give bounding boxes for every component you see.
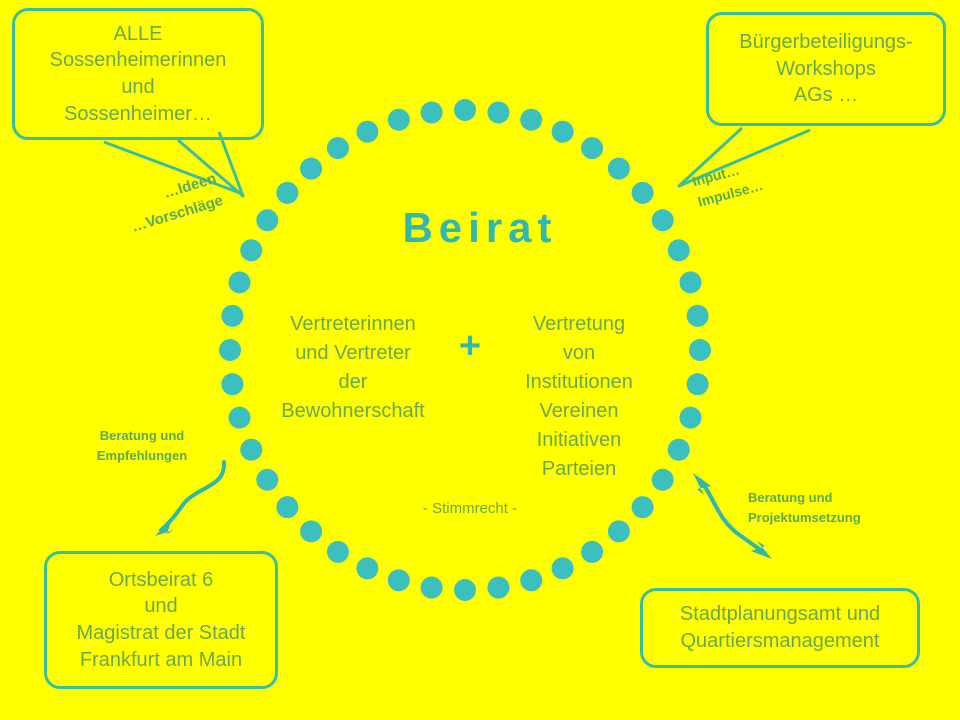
bubble-alle-sossenheimer: ALLE Sossenheimerinnen und Sossenheimer… bbox=[12, 8, 264, 140]
ring-dot bbox=[276, 182, 298, 204]
ring-dot bbox=[608, 158, 630, 180]
ring-dot bbox=[421, 101, 443, 123]
ring-dot bbox=[552, 121, 574, 143]
ring-dot bbox=[327, 137, 349, 159]
ring-dot bbox=[388, 109, 410, 131]
ring-dot bbox=[632, 496, 654, 518]
ring-dot bbox=[327, 541, 349, 563]
center-column-institutionen: Vertretung von Institutionen Vereinen In… bbox=[484, 310, 674, 484]
ring-dot bbox=[454, 99, 476, 121]
ring-dot bbox=[679, 407, 701, 429]
ring-dot bbox=[229, 271, 251, 293]
diagram-canvas: ALLE Sossenheimerinnen und Sossenheimer…… bbox=[0, 0, 960, 720]
arrowhead-projektumsetzung-end bbox=[751, 541, 772, 559]
box-ortsbeirat-magistrat: Ortsbeirat 6 und Magistrat der Stadt Fra… bbox=[44, 551, 278, 689]
ring-dot bbox=[689, 339, 711, 361]
ring-dot bbox=[221, 305, 243, 327]
bubble-alle-text: ALLE Sossenheimerinnen und Sossenheimer… bbox=[15, 21, 261, 127]
ring-dot bbox=[520, 109, 542, 131]
ring-dot bbox=[581, 137, 603, 159]
bubble-buergerbeteiligungs-workshops: Bürgerbeteiligungs- Workshops AGs … bbox=[706, 12, 946, 126]
ring-dot bbox=[632, 182, 654, 204]
box-stadtplanung-text: Stadtplanungsamt und Quartiersmanagement bbox=[643, 601, 917, 654]
ring-dot bbox=[520, 569, 542, 591]
ring-dot bbox=[608, 520, 630, 542]
ring-dot bbox=[276, 496, 298, 518]
ring-dot bbox=[552, 557, 574, 579]
ring-dot bbox=[240, 439, 262, 461]
ring-dot bbox=[356, 557, 378, 579]
ring-dot bbox=[487, 577, 509, 599]
ring-dot bbox=[256, 469, 278, 491]
ring-dot bbox=[388, 569, 410, 591]
ring-dot bbox=[454, 579, 476, 601]
ring-dot bbox=[300, 158, 322, 180]
box-ortsbeirat-text: Ortsbeirat 6 und Magistrat der Stadt Fra… bbox=[47, 567, 275, 673]
ring-dot bbox=[300, 520, 322, 542]
ring-dot bbox=[421, 577, 443, 599]
annotation-beratung-empfehlungen: Beratung und Empfehlungen bbox=[78, 426, 206, 465]
ring-dot bbox=[581, 541, 603, 563]
arrowhead-beratung-empfehlungen bbox=[155, 518, 174, 536]
box-stadtplanungsamt-quartiersmanagement: Stadtplanungsamt und Quartiersmanagement bbox=[640, 588, 920, 668]
ring-dot bbox=[687, 373, 709, 395]
ring-dot bbox=[487, 101, 509, 123]
ring-dot bbox=[356, 121, 378, 143]
ring-dot bbox=[687, 305, 709, 327]
ring-dot bbox=[221, 373, 243, 395]
annotation-beratung-projektumsetzung: Beratung und Projektumsetzung bbox=[748, 488, 908, 527]
center-footnote-stimmrecht: - Stimmrecht - bbox=[330, 500, 610, 517]
arrowhead-projektumsetzung-start bbox=[693, 473, 711, 495]
ring-dot bbox=[229, 407, 251, 429]
ring-dot bbox=[219, 339, 241, 361]
arrow-beratung-empfehlungen bbox=[161, 462, 224, 530]
ring-dot bbox=[679, 271, 701, 293]
center-column-bewohnerschaft: Vertreterinnen und Vertreter der Bewohne… bbox=[262, 310, 444, 426]
bubble-workshops-text: Bürgerbeteiligungs- Workshops AGs … bbox=[709, 29, 943, 109]
